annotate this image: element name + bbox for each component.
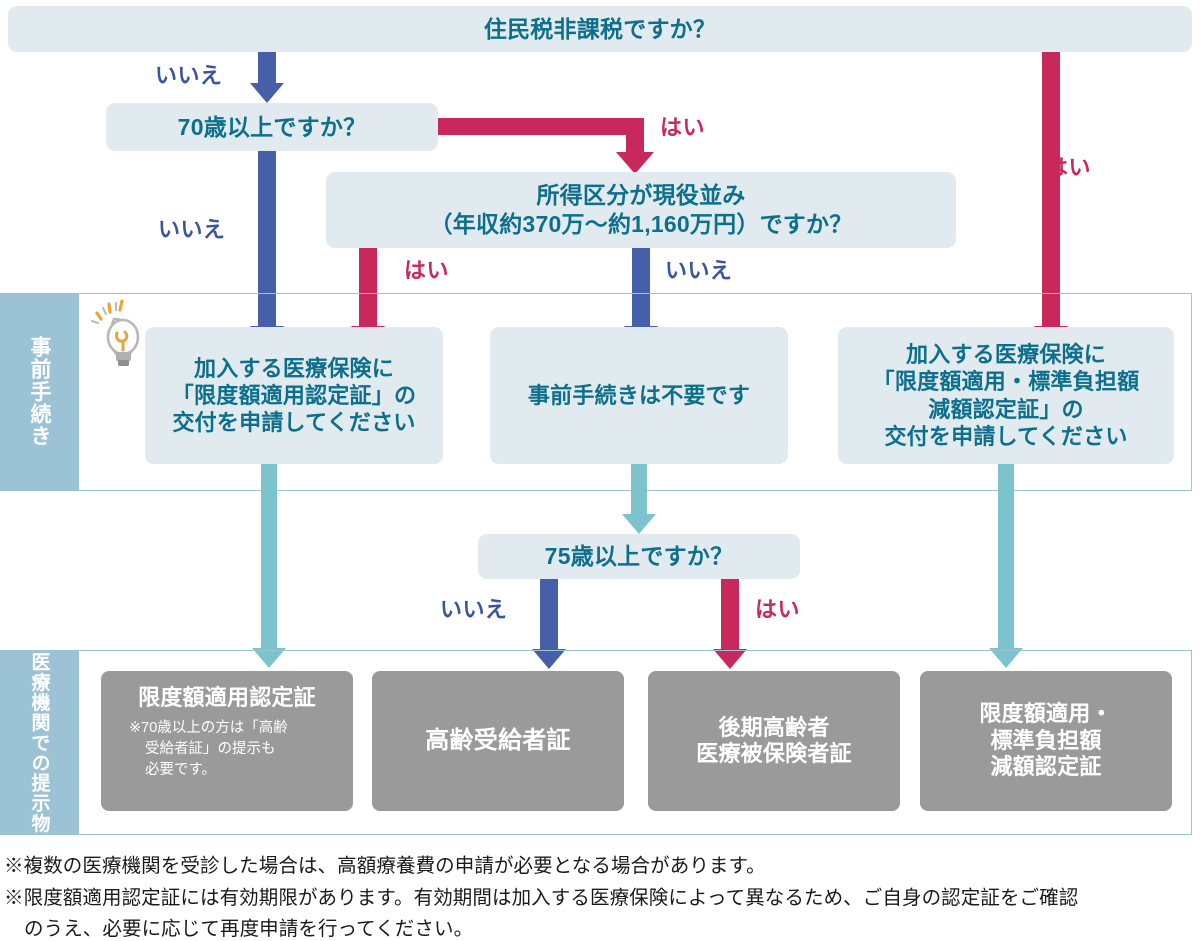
flowchart-root: 住民税非課税ですか？ いいえ はい 70歳以上ですか？ はい いいえ 所得区分が…	[0, 0, 1200, 941]
action-box-gendogaku-certificate[interactable]: 加入する医療保険に 「限度額適用認定証」の 交付を申請してください	[145, 327, 443, 464]
arrow-shaft-q2-yes-horizontal	[438, 118, 644, 135]
band-label-hospital-present: 医療機関での提示物	[0, 650, 78, 835]
result2-title: 高齢受給者証	[425, 727, 570, 756]
result3-title-line2: 医療被保険者証	[696, 741, 852, 767]
arrow-shaft-q4-no	[540, 579, 558, 650]
arrow-shaft-q1-no	[258, 52, 276, 84]
result1-title: 限度額適用認定証	[138, 685, 316, 711]
action3-line-3: 減額認定証」の	[838, 396, 1174, 423]
income-line-1: 所得区分が現役並み	[326, 181, 956, 210]
arrow-shaft-action1-to-result1	[261, 464, 277, 649]
result1-note: ※70歳以上の方は「高齢 受給者証」の提示も 必要です。	[129, 718, 325, 781]
action3-line-1: 加入する医療保険に	[838, 341, 1174, 368]
band-text-pre-procedure: 事前手続き	[24, 336, 54, 447]
band-text-hospital-present: 医療機関での提示物	[26, 652, 53, 833]
result-box-elderly-recipient[interactable]: 高齢受給者証	[372, 671, 624, 811]
result-box-gendogaku-standard-reduction[interactable]: 限度額適用・ 標準負担額 減額認定証	[920, 671, 1172, 811]
band-label-pre-procedure: 事前手続き	[0, 293, 78, 491]
footnote-line-3: のうえ、必要に応じて再度申請を行ってください。	[4, 914, 1196, 941]
arrow-shaft-q2-yes-vertical	[626, 118, 644, 153]
result-box-late-elderly-insurance[interactable]: 後期高齢者 医療被保険者証	[648, 671, 900, 811]
arrow-head-action2-to-q4	[622, 514, 656, 534]
question-box-income-category[interactable]: 所得区分が現役並み （年収約370万〜約1,160万円）ですか？	[326, 172, 956, 248]
arrow-shaft-q1-yes	[1042, 52, 1060, 327]
action-text-no-procedure: 事前手続きは不要です	[490, 382, 788, 409]
footnote-line-2: ※限度額適用認定証には有効期限があります。有効期間は加入する医療保険によって異な…	[4, 883, 1196, 915]
action1-line-1: 加入する医療保険に	[145, 355, 443, 382]
result1-note-line3: 必要です。	[129, 760, 325, 781]
arrow-head-q2-yes	[616, 152, 654, 174]
question-box-over-75[interactable]: 75歳以上ですか？	[478, 534, 800, 579]
question-box-resident-tax[interactable]: 住民税非課税ですか？	[8, 6, 1192, 52]
question-text-over-75: 75歳以上ですか？	[478, 542, 800, 571]
question-text-over-70: 70歳以上ですか？	[106, 113, 438, 142]
arrow-label-q3-no: いいえ	[665, 253, 732, 285]
arrow-label-q4-no: いいえ	[440, 592, 507, 624]
footnote-line-1: ※複数の医療機関を受診した場合は、高額療養費の申請が必要となる場合があります。	[4, 851, 1196, 883]
result1-note-line2: 受給者証」の提示も	[129, 739, 325, 760]
question-box-over-70[interactable]: 70歳以上ですか？	[106, 103, 438, 151]
result4-title-line3: 減額認定証	[979, 754, 1112, 780]
result4-title: 限度額適用・ 標準負担額 減額認定証	[979, 701, 1112, 780]
result1-note-line1: ※70歳以上の方は「高齢	[129, 718, 325, 739]
result3-title: 後期高齢者 医療被保険者証	[696, 715, 852, 768]
arrow-label-q1-yes: はい	[1046, 150, 1091, 182]
result4-title-line1: 限度額適用・	[979, 701, 1112, 727]
action-text-gendogaku-standard-reduction: 加入する医療保険に 「限度額適用・標準負担額 減額認定証」の 交付を申請してくだ…	[838, 341, 1174, 450]
arrow-label-q4-yes: はい	[755, 592, 800, 624]
income-line-2: （年収約370万〜約1,160万円）ですか？	[326, 210, 956, 239]
action1-line-2: 「限度額適用認定証」の	[145, 382, 443, 409]
result-box-gendogaku-certificate[interactable]: 限度額適用認定証 ※70歳以上の方は「高齢 受給者証」の提示も 必要です。	[101, 671, 353, 811]
arrow-label-q2-yes: はい	[660, 110, 705, 142]
action-box-gendogaku-standard-reduction[interactable]: 加入する医療保険に 「限度額適用・標準負担額 減額認定証」の 交付を申請してくだ…	[838, 327, 1174, 464]
question-text-resident-tax: 住民税非課税ですか？	[8, 15, 1192, 44]
result4-title-line2: 標準負担額	[979, 728, 1112, 754]
question-text-income-category: 所得区分が現役並み （年収約370万〜約1,160万円）ですか？	[326, 181, 956, 238]
result3-title-line1: 後期高齢者	[696, 715, 852, 741]
arrow-label-q1-no: いいえ	[155, 58, 222, 90]
arrow-label-q2-no: いいえ	[158, 212, 225, 244]
action-box-no-procedure[interactable]: 事前手続きは不要です	[490, 327, 788, 464]
arrow-shaft-action2-to-q4	[631, 464, 647, 515]
action3-line-2: 「限度額適用・標準負担額	[838, 368, 1174, 395]
arrow-head-q1-no	[250, 83, 284, 103]
arrow-shaft-q4-yes	[721, 579, 739, 650]
action3-line-4: 交付を申請してください	[838, 423, 1174, 450]
arrow-shaft-action3-to-result4	[998, 464, 1014, 649]
action-text-gendogaku-certificate: 加入する医療保険に 「限度額適用認定証」の 交付を申請してください	[145, 355, 443, 437]
arrow-label-q3-yes: はい	[404, 253, 449, 285]
footnotes: ※複数の医療機関を受診した場合は、高額療養費の申請が必要となる場合があります。 …	[4, 851, 1196, 941]
action1-line-3: 交付を申請してください	[145, 409, 443, 436]
